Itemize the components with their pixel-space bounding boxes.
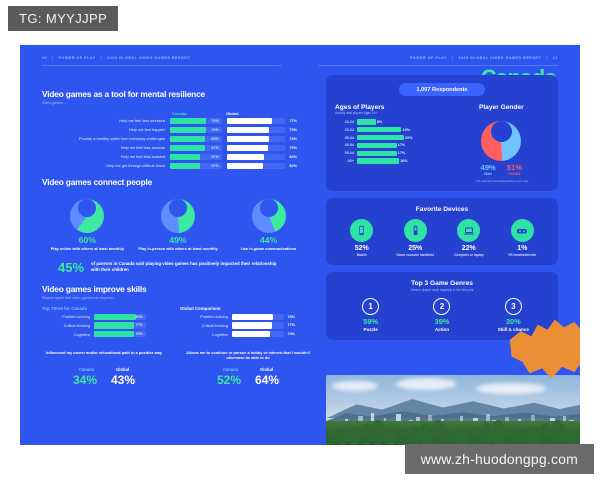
skill-row: Problem-solving80% xyxy=(42,314,166,320)
report-right: 2025 GLOBAL VIDEO GAMES REPORT xyxy=(458,56,541,60)
gender-block: Player Gender 49% Male 51% Female xyxy=(454,104,549,183)
tree xyxy=(575,429,580,445)
age-row: 18-248% xyxy=(335,119,448,125)
stat-canada-label: Canada xyxy=(223,367,238,372)
stat-canada-value: 34% xyxy=(73,373,97,387)
skills-canada-column: Top Three for Canada Problem-solving80%C… xyxy=(42,306,166,340)
skill-label: Problem-solving xyxy=(42,314,94,319)
age-value: 17% xyxy=(398,143,405,147)
global-bar: 73% xyxy=(227,136,285,142)
global-bar-value: 73% xyxy=(289,137,297,141)
skills-canada-head: Top Three for Canada xyxy=(42,306,166,311)
device-label: VR headset/device xyxy=(496,254,548,258)
age-value: 8% xyxy=(377,120,382,124)
city-skyline-photo xyxy=(326,375,580,445)
infographic-spread: 20 | POWER OF PLAY | 2025 GLOBAL VIDEO G… xyxy=(20,45,580,445)
skill-row: Cognitive74% xyxy=(180,331,304,337)
resilience-subtitle: Video games... xyxy=(42,101,314,105)
age-bar: 17% xyxy=(357,151,417,157)
canada-bar: 70% xyxy=(170,118,222,124)
device-item: 1%VR headset/device xyxy=(496,219,548,257)
legend-canada: Canada xyxy=(172,111,226,116)
canada-bar-value: 57% xyxy=(211,155,219,159)
genre-percent: 30% xyxy=(483,318,543,325)
report-left: 2025 GLOBAL VIDEO GAMES REPORT xyxy=(107,56,190,60)
donut-caption: Use in-game communications xyxy=(229,247,309,252)
canada-bar-value: 68% xyxy=(211,137,219,141)
device-label: Game console/ handheld xyxy=(389,254,441,258)
canada-bar: 57% xyxy=(170,154,222,160)
age-label: 18-24 xyxy=(335,120,357,124)
device-item: 22%Computer or laptop xyxy=(443,219,495,257)
skill-row: Critical thinking77% xyxy=(180,322,304,328)
gender-female: 51% Female xyxy=(507,164,522,177)
separator: | xyxy=(52,56,54,60)
resilience-row: Help me get through difficult times57%62… xyxy=(42,163,314,169)
skills-global-column: Global Comparison Problem-solving78%Crit… xyxy=(180,306,304,340)
age-value: 18% xyxy=(400,159,407,163)
canada-bar: 68% xyxy=(170,136,222,142)
canada-bar-value: 70% xyxy=(211,128,219,132)
devices-card: Favorite Devices 52%Mobile25%Game consol… xyxy=(326,198,558,265)
genre-item: 330%Skill & chance xyxy=(483,298,543,332)
age-label: 35-44 xyxy=(335,136,357,140)
running-head-left: 20 | POWER OF PLAY | 2025 GLOBAL VIDEO G… xyxy=(42,53,190,63)
male-percent: 49% xyxy=(481,164,496,172)
resilience-row-label: Help me feel less isolated xyxy=(42,155,170,159)
genres-title: Top 3 Game Genres xyxy=(335,280,549,287)
age-row: 65+18% xyxy=(335,158,448,164)
skill-bar: 77% xyxy=(232,322,284,328)
right-column: 1,007 Respondents Ages of Players Among … xyxy=(326,75,558,347)
running-head-right: POWER OF PLAY | 2025 GLOBAL VIDEO GAMES … xyxy=(410,53,558,63)
ages-block: Ages of Players Among total players ages… xyxy=(335,104,448,183)
gender-donut-chart xyxy=(481,121,521,161)
brand-right: POWER OF PLAY xyxy=(410,56,447,60)
connect-donuts: 60%Play online with others at least mont… xyxy=(42,191,314,251)
skill-value: 74% xyxy=(287,332,295,336)
donut-chart xyxy=(70,199,104,233)
skill-label: Critical thinking xyxy=(180,323,232,328)
ages-subtitle: Among total players ages 16+ xyxy=(335,111,448,115)
resilience-row: Help me feel less isolated57%64% xyxy=(42,154,314,160)
respondents-card: 1,007 Respondents Ages of Players Among … xyxy=(326,75,558,191)
parents-text: of parents in Canada said playing video … xyxy=(91,261,281,273)
resilience-row: Help me feel less anxious67%70% xyxy=(42,145,314,151)
stat-global-value: 43% xyxy=(111,373,135,387)
genres-card: Top 3 Game Genres Genres played most reg… xyxy=(326,272,558,340)
skill-bar: 78% xyxy=(232,314,284,320)
donut-percent: 49% xyxy=(138,236,218,245)
donut-chart xyxy=(252,199,286,233)
respondents-pill: 1,007 Respondents xyxy=(399,83,485,96)
genre-item: 239%Action xyxy=(412,298,472,332)
canada-bar: 57% xyxy=(170,163,222,169)
skill-value: 80% xyxy=(135,315,143,319)
resilience-row: Provide a healthy outlet from everyday c… xyxy=(42,136,314,142)
device-label: Mobile xyxy=(336,254,388,258)
ages-chart: 18-248%25-3419%35-4420%45-5417%55-6417%6… xyxy=(335,119,448,164)
stat-global-label: Global xyxy=(116,367,129,372)
resilience-row: Help me feel happier70%73% xyxy=(42,127,314,133)
canada-bar-value: 67% xyxy=(211,146,219,150)
stat-description: Allows me to continue or pursue a hobby … xyxy=(186,350,310,362)
stat-global-label: Global xyxy=(260,367,273,372)
site-watermark-badge: www.zh-huodongpg.com xyxy=(405,444,594,474)
gender-title: Player Gender xyxy=(454,104,549,111)
age-value: 17% xyxy=(398,151,405,155)
left-column: Video games as a tool for mental resilie… xyxy=(42,89,314,387)
age-label: 55-64 xyxy=(335,151,357,155)
canada-bar: 70% xyxy=(170,127,222,133)
gender-note: <1% selected non-binary/prefer not to sa… xyxy=(454,179,549,183)
stat-canada-label: Canada xyxy=(79,367,94,372)
skill-bar: 80% xyxy=(94,314,146,320)
female-percent: 51% xyxy=(507,164,522,172)
canada-bar-value: 57% xyxy=(211,164,219,168)
screenshot-root: 20 | POWER OF PLAY | 2025 GLOBAL VIDEO G… xyxy=(0,0,600,480)
skill-row: Critical thinking77% xyxy=(42,322,166,328)
skills-charts: Top Three for Canada Problem-solving80%C… xyxy=(42,306,314,340)
skill-label: Critical thinking xyxy=(42,323,94,328)
age-label: 45-54 xyxy=(335,143,357,147)
skills-global-head: Global Comparison xyxy=(180,306,304,311)
genre-percent: 39% xyxy=(412,318,472,325)
connect-title: Video games connect people xyxy=(42,177,314,187)
genre-rank-badge: 1 xyxy=(362,298,379,315)
global-bar: 62% xyxy=(227,163,285,169)
global-bar-value: 64% xyxy=(289,155,297,159)
header-rule-left xyxy=(42,65,282,66)
global-bar: 64% xyxy=(227,154,285,160)
age-label: 65+ xyxy=(335,159,357,163)
device-label: Computer or laptop xyxy=(443,254,495,258)
resilience-row-label: Help me get through difficult times xyxy=(42,164,170,168)
global-bar-value: 70% xyxy=(289,146,297,150)
resilience-chart: Help me feel less stressed70%77%Help me … xyxy=(42,118,314,169)
genre-item: 159%Puzzle xyxy=(341,298,401,332)
skills-title: Video games improve skills xyxy=(42,284,314,294)
connect-donut-item: 44%Use in-game communications xyxy=(229,191,309,251)
device-percent: 25% xyxy=(389,245,441,252)
skill-bar: 76% xyxy=(94,331,146,337)
age-row: 55-6417% xyxy=(335,151,448,157)
skill-value: 78% xyxy=(287,315,295,319)
connect-donut-item: 60%Play online with others at least mont… xyxy=(47,191,127,251)
stat-description: Influenced my career and/or educational … xyxy=(42,350,166,362)
skill-label: Cognitive xyxy=(42,332,94,337)
stat-canada-value: 52% xyxy=(217,373,241,387)
devices-title: Favorite Devices xyxy=(335,206,549,213)
global-bar-value: 73% xyxy=(289,128,297,132)
resilience-row-label: Help me feel less anxious xyxy=(42,146,170,150)
donut-caption: Play online with others at least monthly xyxy=(47,247,127,252)
skill-stat-block: Allows me to continue or pursue a hobby … xyxy=(186,350,310,387)
devices-list: 52%Mobile25%Game console/ handheld22%Com… xyxy=(335,219,549,257)
female-label: Female xyxy=(507,172,522,176)
vr-icon xyxy=(511,219,534,242)
donut-caption: Play in-person with others at least mont… xyxy=(138,247,218,252)
male-label: Male xyxy=(481,172,496,176)
separator: | xyxy=(546,56,548,60)
donut-chart xyxy=(161,199,195,233)
canada-bar: 67% xyxy=(170,145,222,151)
age-value: 20% xyxy=(405,136,412,140)
age-bar: 19% xyxy=(357,127,417,133)
age-row: 45-5417% xyxy=(335,143,448,149)
age-label: 25-34 xyxy=(335,128,357,132)
genre-rank-badge: 3 xyxy=(505,298,522,315)
parents-stat: 45% of parents in Canada said playing vi… xyxy=(42,260,314,275)
resilience-row: Help me feel less stressed70%77% xyxy=(42,118,314,124)
skills-subtitle: Players agree that video games can impro… xyxy=(42,296,314,300)
age-row: 35-4420% xyxy=(335,135,448,141)
separator: | xyxy=(452,56,454,60)
skill-row: Problem-solving78% xyxy=(180,314,304,320)
device-percent: 52% xyxy=(336,245,388,252)
genres-list: 159%Puzzle239%Action330%Skill & chance xyxy=(335,298,549,332)
skills-stat-pair: Influenced my career and/or educational … xyxy=(42,350,314,387)
device-percent: 22% xyxy=(443,245,495,252)
resilience-row-label: Provide a healthy outlet from everyday c… xyxy=(42,137,170,141)
phone-icon xyxy=(350,219,373,242)
global-bar: 77% xyxy=(227,118,285,124)
page-number-left: 20 xyxy=(42,56,47,60)
age-bar: 20% xyxy=(357,135,417,141)
age-bar: 8% xyxy=(357,119,417,125)
legend-global: Global xyxy=(226,111,286,116)
separator: | xyxy=(101,56,103,60)
device-item: 25%Game console/ handheld xyxy=(389,219,441,257)
skill-value: 77% xyxy=(135,323,143,327)
age-row: 25-3419% xyxy=(335,127,448,133)
skill-bar: 77% xyxy=(94,322,146,328)
resilience-row-label: Help me feel happier xyxy=(42,128,170,132)
connect-donut-item: 49%Play in-person with others at least m… xyxy=(138,191,218,251)
age-bar: 18% xyxy=(357,158,417,164)
global-bar-value: 77% xyxy=(289,119,297,123)
device-item: 52%Mobile xyxy=(336,219,388,257)
donut-percent: 60% xyxy=(47,236,127,245)
global-bar: 70% xyxy=(227,145,285,151)
donut-percent: 44% xyxy=(229,236,309,245)
console-icon xyxy=(404,219,427,242)
skill-label: Cognitive xyxy=(180,332,232,337)
genre-percent: 59% xyxy=(341,318,401,325)
tg-watermark-badge: TG: MYYJJPP xyxy=(8,6,118,31)
global-bar-value: 62% xyxy=(289,164,297,168)
genre-rank-badge: 2 xyxy=(433,298,450,315)
resilience-row-label: Help me feel less stressed xyxy=(42,119,170,123)
skill-value: 77% xyxy=(287,323,295,327)
skill-row: Cognitive76% xyxy=(42,331,166,337)
stat-global-value: 64% xyxy=(255,373,279,387)
parents-percent: 45% xyxy=(58,260,84,275)
skill-bar: 74% xyxy=(232,331,284,337)
skill-label: Problem-solving xyxy=(180,314,232,319)
genre-label: Puzzle xyxy=(341,327,401,332)
brand-left: POWER OF PLAY xyxy=(59,56,96,60)
genres-subtitle: Genres played most regularly in the last… xyxy=(335,288,549,292)
age-value: 19% xyxy=(403,128,410,132)
gender-male: 49% Male xyxy=(481,164,496,177)
genre-label: Action xyxy=(412,327,472,332)
page-number-right: 21 xyxy=(553,56,558,60)
skill-value: 76% xyxy=(135,332,143,336)
canada-bar-value: 70% xyxy=(211,119,219,123)
resilience-title: Video games as a tool for mental resilie… xyxy=(42,89,314,99)
age-bar: 17% xyxy=(357,143,417,149)
skill-stat-block: Influenced my career and/or educational … xyxy=(42,350,166,387)
resilience-legend: Canada Global xyxy=(42,111,314,116)
global-bar: 73% xyxy=(227,127,285,133)
ages-title: Ages of Players xyxy=(335,104,448,111)
device-percent: 1% xyxy=(496,245,548,252)
laptop-icon xyxy=(457,219,480,242)
